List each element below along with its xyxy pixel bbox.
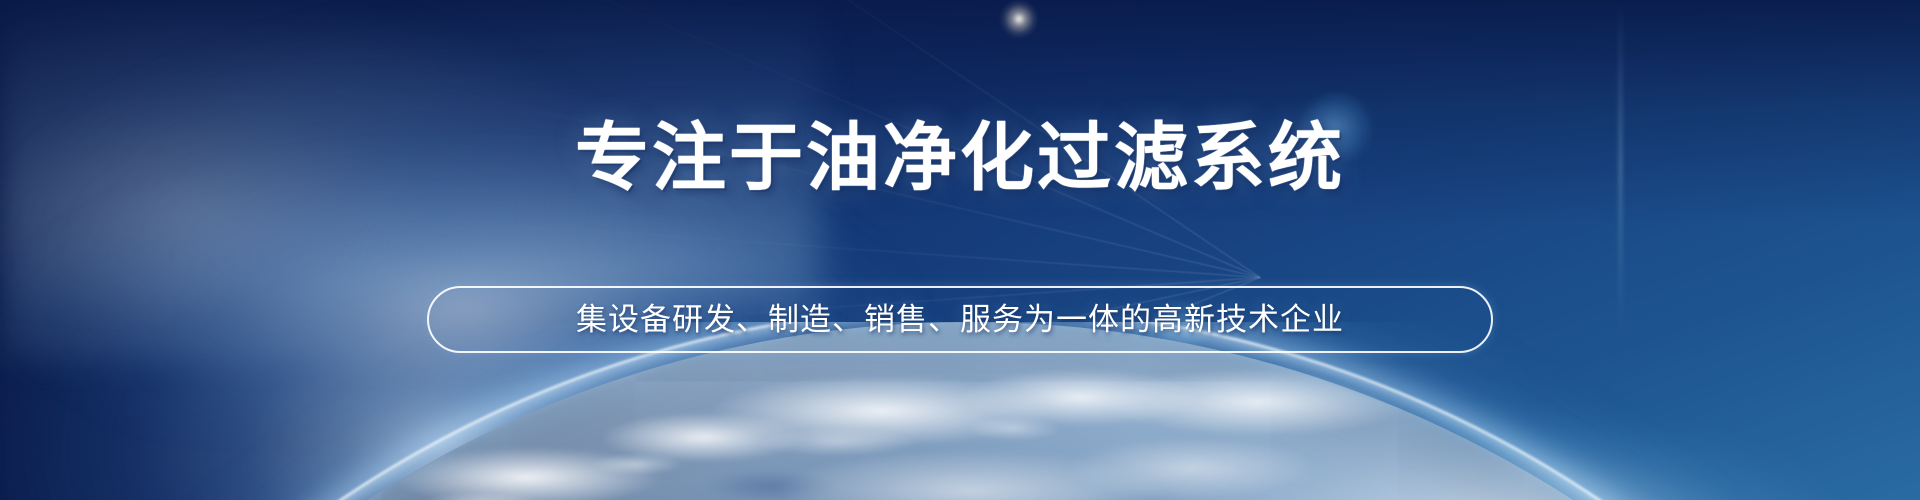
banner-headline: 专注于油净化过滤系统 [575, 121, 1345, 195]
banner-content: 专注于油净化过滤系统 集设备研发、制造、销售、服务为一体的高新技术企业 [0, 0, 1920, 500]
hero-banner: 专注于油净化过滤系统 集设备研发、制造、销售、服务为一体的高新技术企业 [0, 0, 1920, 500]
banner-subtitle: 集设备研发、制造、销售、服务为一体的高新技术企业 [576, 304, 1344, 335]
subtitle-pill: 集设备研发、制造、销售、服务为一体的高新技术企业 [427, 286, 1493, 353]
